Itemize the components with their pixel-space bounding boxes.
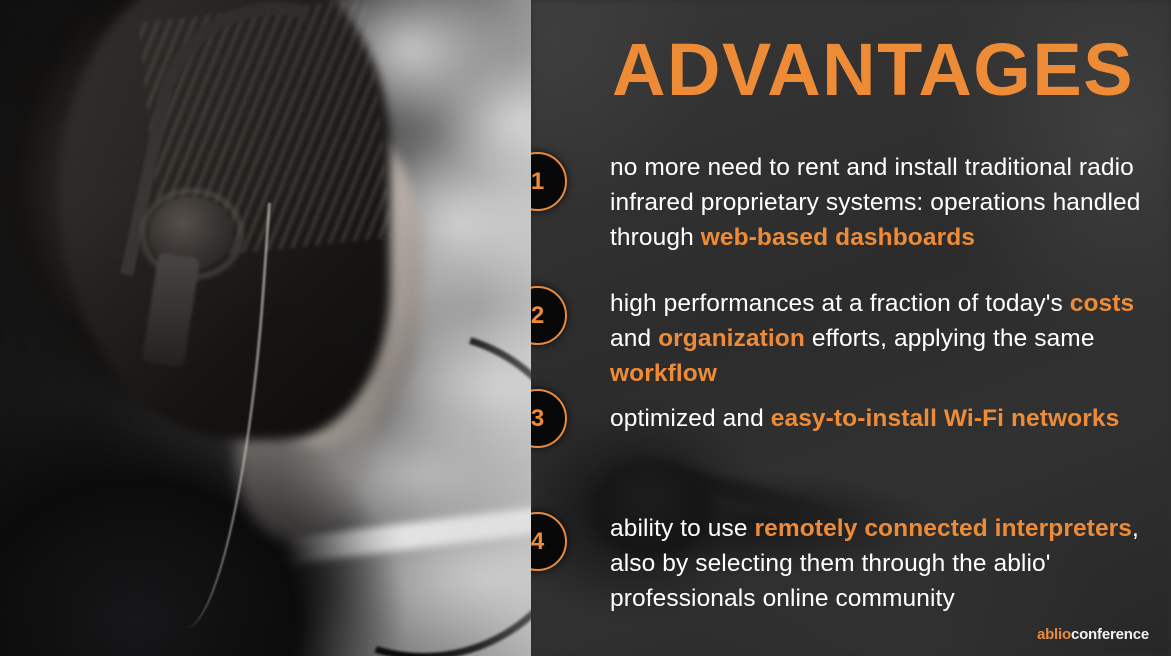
item-text: high performances at a fraction of today… [610,286,1155,391]
item-text-segment: optimized and [610,405,771,432]
item-text-highlight: workflow [610,360,717,387]
ablioconference-logo: ablioconference [1037,627,1149,642]
advantages-list: 1 no more need to rent and install tradi… [531,0,1171,656]
item-text-segment: efforts, applying the same [805,325,1095,352]
item-text-segment: high performances at a fraction of today… [610,290,1070,317]
item-number-badge: 2 [531,286,567,345]
item-text-highlight: remotely connected interpreters [755,515,1133,542]
content-panel: ADVANTAGES 1 no more need to rent and in… [531,0,1171,656]
item-text-highlight: easy-to-install Wi-Fi networks [771,405,1120,432]
logo-primary-text: ablio [1037,626,1071,643]
item-number-badge: 1 [531,152,567,211]
item-text: no more need to rent and install traditi… [610,150,1155,255]
item-text-highlight: costs [1070,290,1135,317]
slide: ADVANTAGES 1 no more need to rent and in… [0,0,1171,656]
speaker-photo [0,0,531,656]
item-number-badge: 4 [531,512,567,571]
logo-secondary-text: conference [1071,626,1149,643]
item-text: optimized and easy-to-install Wi-Fi netw… [610,401,1155,436]
item-text-highlight: organization [658,325,805,352]
item-number-badge: 3 [531,389,567,448]
item-text-segment: and [610,325,658,352]
item-text-highlight: web-based dashboards [701,224,975,251]
item-text: ability to use remotely connected interp… [610,511,1155,616]
item-text-segment: ability to use [610,515,755,542]
